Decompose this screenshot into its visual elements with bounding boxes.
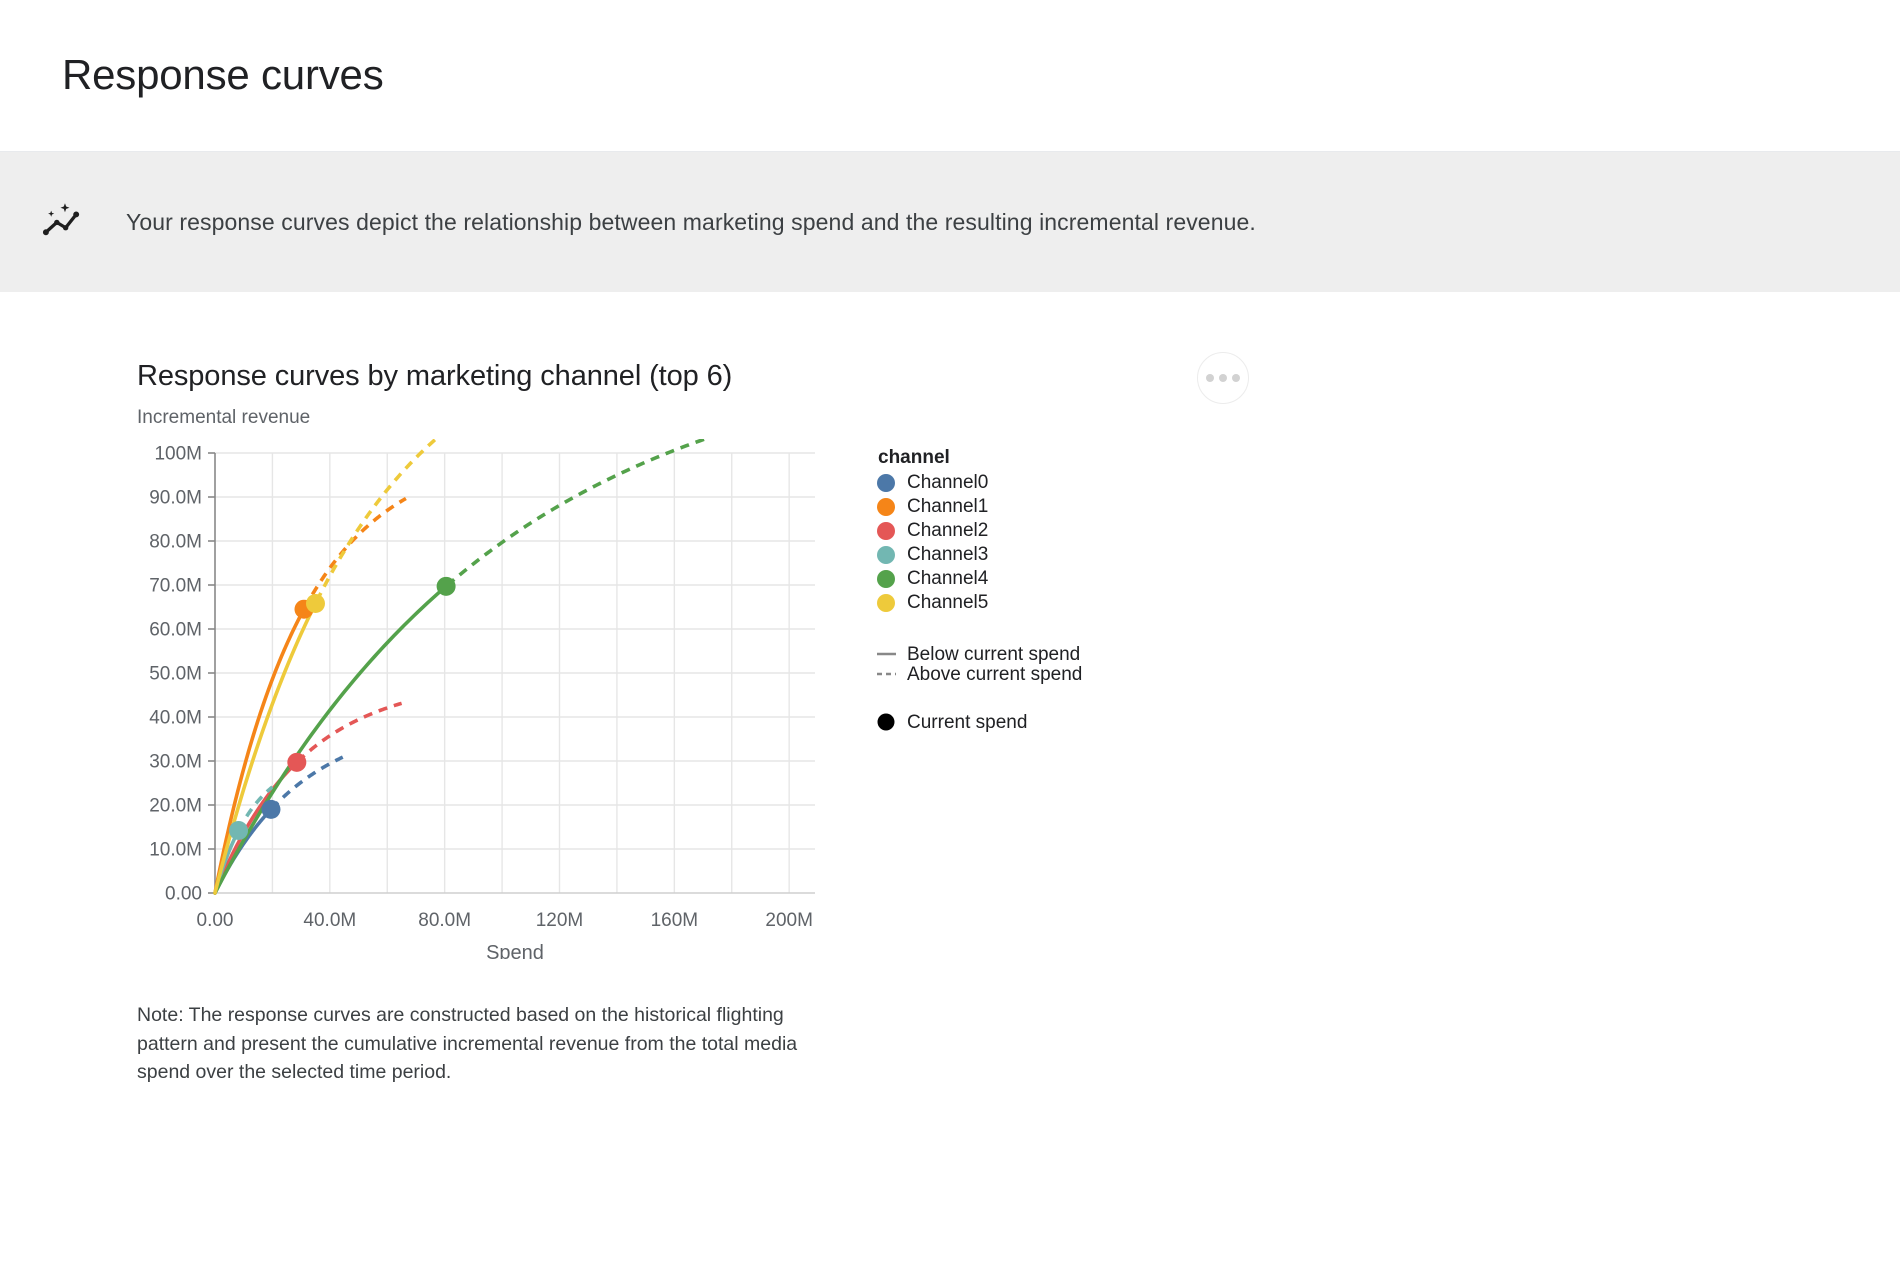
x-tick-label: 40.0M [303,910,356,931]
chart-note: Note: The response curves are constructe… [137,1001,827,1087]
x-tick-label: 0.00 [197,910,234,931]
response-curves-svg[interactable]: 0.0010.0M20.0M30.0M40.0M50.0M60.0M70.0M8… [137,439,1357,959]
current-spend-dot-channel0[interactable] [261,800,280,819]
page-header: Response curves [0,0,1900,152]
chart-header: Response curves by marketing channel (to… [137,360,1297,429]
y-tick-label: 20.0M [149,796,202,817]
current-spend-dot-channel4[interactable] [437,577,456,596]
y-tick-label: 70.0M [149,576,202,597]
curve-dashed-channel5[interactable] [317,439,501,601]
y-tick-label: 10.0M [149,840,202,861]
y-tick-label: 30.0M [149,752,202,773]
info-banner-text: Your response curves depict the relation… [126,209,1256,236]
more-dot-1 [1206,374,1214,382]
legend-item-channel5[interactable]: Channel5 [907,592,988,613]
info-banner: Your response curves depict the relation… [0,152,1900,292]
chart-title: Response curves by marketing channel (to… [137,360,1297,393]
x-axis-title: Spend [486,942,544,959]
y-tick-label: 80.0M [149,532,202,553]
current-spend-dot-channel3[interactable] [229,821,248,840]
more-options-button[interactable] [1197,352,1249,404]
legend-item-channel2[interactable]: Channel2 [907,520,988,541]
y-tick-label: 40.0M [149,708,202,729]
legend-item-channel4[interactable]: Channel4 [907,568,989,589]
legend-swatch-channel3[interactable] [877,546,895,564]
y-tick-label: 90.0M [149,488,202,509]
response-curves-page: Response curves Your response curves dep… [0,0,1900,1282]
chart-y-axis-title: Incremental revenue [137,407,1297,429]
curve-dashed-channel1[interactable] [304,499,405,609]
response-curves-card: Response curves by marketing channel (to… [0,360,1900,1087]
legend-item-above-current-spend[interactable]: Above current spend [907,664,1082,685]
x-tick-label: 80.0M [418,910,471,931]
insights-sparkle-icon [36,196,88,248]
y-tick-label: 0.00 [165,884,202,905]
current-spend-dot-channel5[interactable] [306,594,325,613]
y-tick-label: 100M [154,444,202,465]
x-tick-label: 160M [651,910,699,931]
page-title: Response curves [62,52,384,98]
legend-swatch-channel1[interactable] [877,498,895,516]
current-spend-dot-channel2[interactable] [287,753,306,772]
x-tick-label: 120M [536,910,584,931]
legend-item-channel1[interactable]: Channel1 [907,496,988,517]
curve-dashed-channel0[interactable] [272,757,343,808]
legend-item-channel3[interactable]: Channel3 [907,544,988,565]
legend-swatch-channel0[interactable] [877,474,895,492]
x-tick-label: 200M [765,910,813,931]
legend-item-current-spend[interactable]: Current spend [907,712,1027,733]
main-content: Response curves by marketing channel (to… [0,360,1900,1087]
legend-swatch-channel4[interactable] [877,570,895,588]
legend-swatch-channel5[interactable] [877,594,895,612]
legend-title: channel [878,447,950,468]
legend-swatch-channel2[interactable] [877,522,895,540]
legend-swatch-current-spend[interactable] [878,714,895,731]
more-dot-3 [1232,374,1240,382]
chart-plot-area: 0.0010.0M20.0M30.0M40.0M50.0M60.0M70.0M8… [137,439,1357,959]
curve-dashed-channel4[interactable] [447,439,746,585]
legend-item-below-current-spend[interactable]: Below current spend [907,644,1080,665]
more-dot-2 [1219,374,1227,382]
legend-item-channel0[interactable]: Channel0 [907,472,988,493]
y-tick-label: 50.0M [149,664,202,685]
y-tick-label: 60.0M [149,620,202,641]
